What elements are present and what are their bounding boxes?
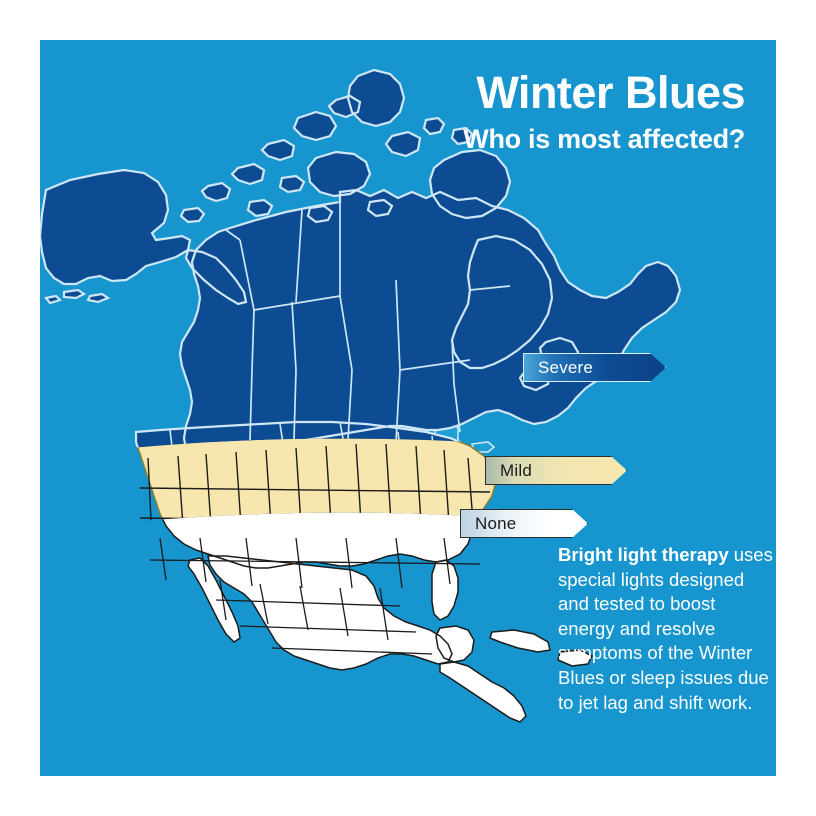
infographic-root: Winter Blues Who is most affected? Sever… bbox=[0, 0, 816, 816]
blue-panel: Winter Blues Who is most affected? Sever… bbox=[40, 40, 776, 776]
legend-label-none: None bbox=[475, 514, 516, 534]
heading-block: Winter Blues Who is most affected? bbox=[325, 70, 745, 153]
body-copy: Bright light therapy uses special lights… bbox=[558, 543, 773, 715]
body-copy-rest: uses special lights designed and tested … bbox=[558, 544, 773, 713]
legend-label-severe: Severe bbox=[538, 358, 593, 378]
page-title: Winter Blues bbox=[325, 70, 745, 115]
legend-arrow-severe[interactable]: Severe bbox=[523, 353, 666, 382]
body-copy-lead: Bright light therapy bbox=[558, 544, 729, 565]
legend-label-mild: Mild bbox=[500, 461, 532, 481]
legend-arrow-mild[interactable]: Mild bbox=[485, 456, 627, 485]
legend-arrow-none[interactable]: None bbox=[460, 509, 588, 538]
page-subtitle: Who is most affected? bbox=[325, 126, 745, 153]
